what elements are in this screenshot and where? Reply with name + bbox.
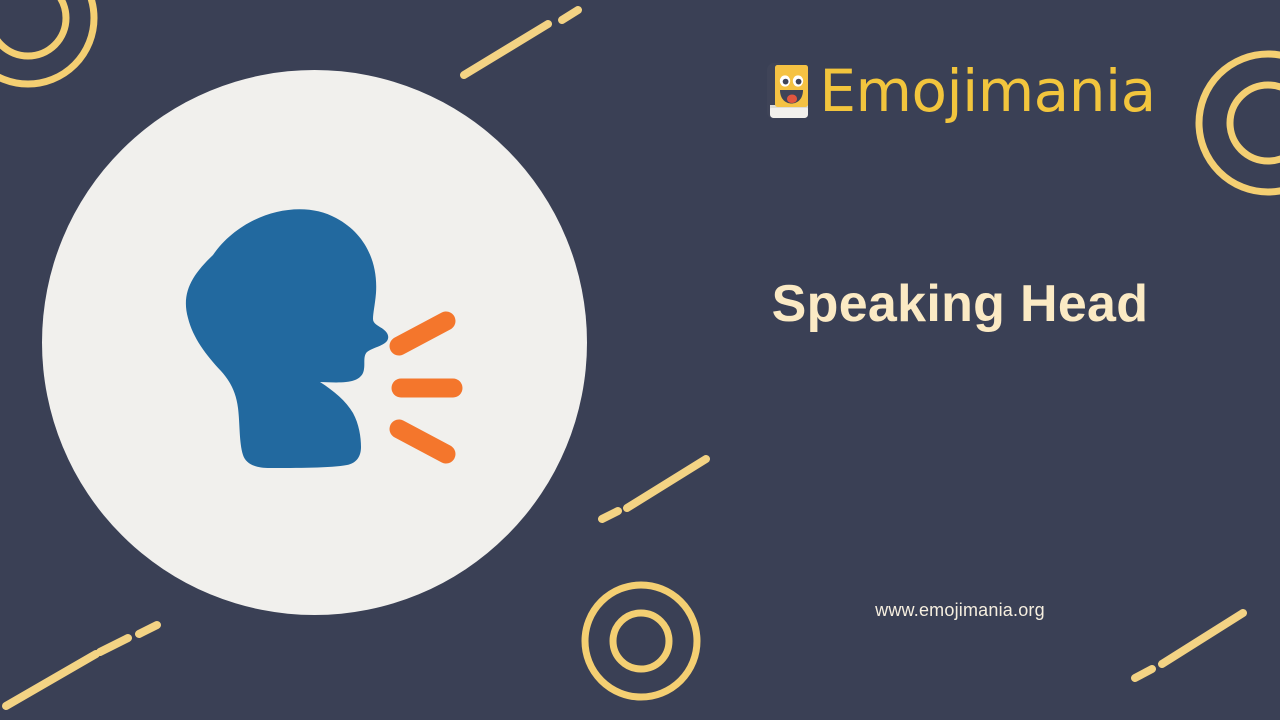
- brand-name: Emojimania: [819, 62, 1155, 120]
- speech-lines-icon: [399, 321, 453, 454]
- info-panel: Emojimania Speaking Head www.emojimania.…: [640, 0, 1280, 720]
- ring-top-left-icon: [0, 0, 94, 84]
- emoji-art-disc: [42, 70, 587, 615]
- speech-line-bottom: [399, 429, 446, 454]
- site-url[interactable]: www.emojimania.org: [640, 600, 1280, 621]
- brand-lockup[interactable]: Emojimania: [640, 62, 1280, 120]
- emoji-title: Speaking Head: [640, 276, 1280, 333]
- dash-top-center-long-icon: [464, 24, 548, 75]
- emoji-card-canvas: Emojimania Speaking Head www.emojimania.…: [0, 0, 1280, 720]
- dash-bottom-left-long-icon: [6, 654, 96, 706]
- speech-line-top: [399, 321, 446, 346]
- dash-top-center-short-icon: [562, 10, 578, 20]
- smiling-book-icon: [764, 63, 810, 119]
- speaking-head-emoji: [150, 193, 480, 493]
- dash-bottom-left-mid-icon: [100, 638, 128, 652]
- dash-bottom-left-short-icon: [139, 625, 157, 634]
- dash-mid-right-short-icon: [602, 511, 618, 519]
